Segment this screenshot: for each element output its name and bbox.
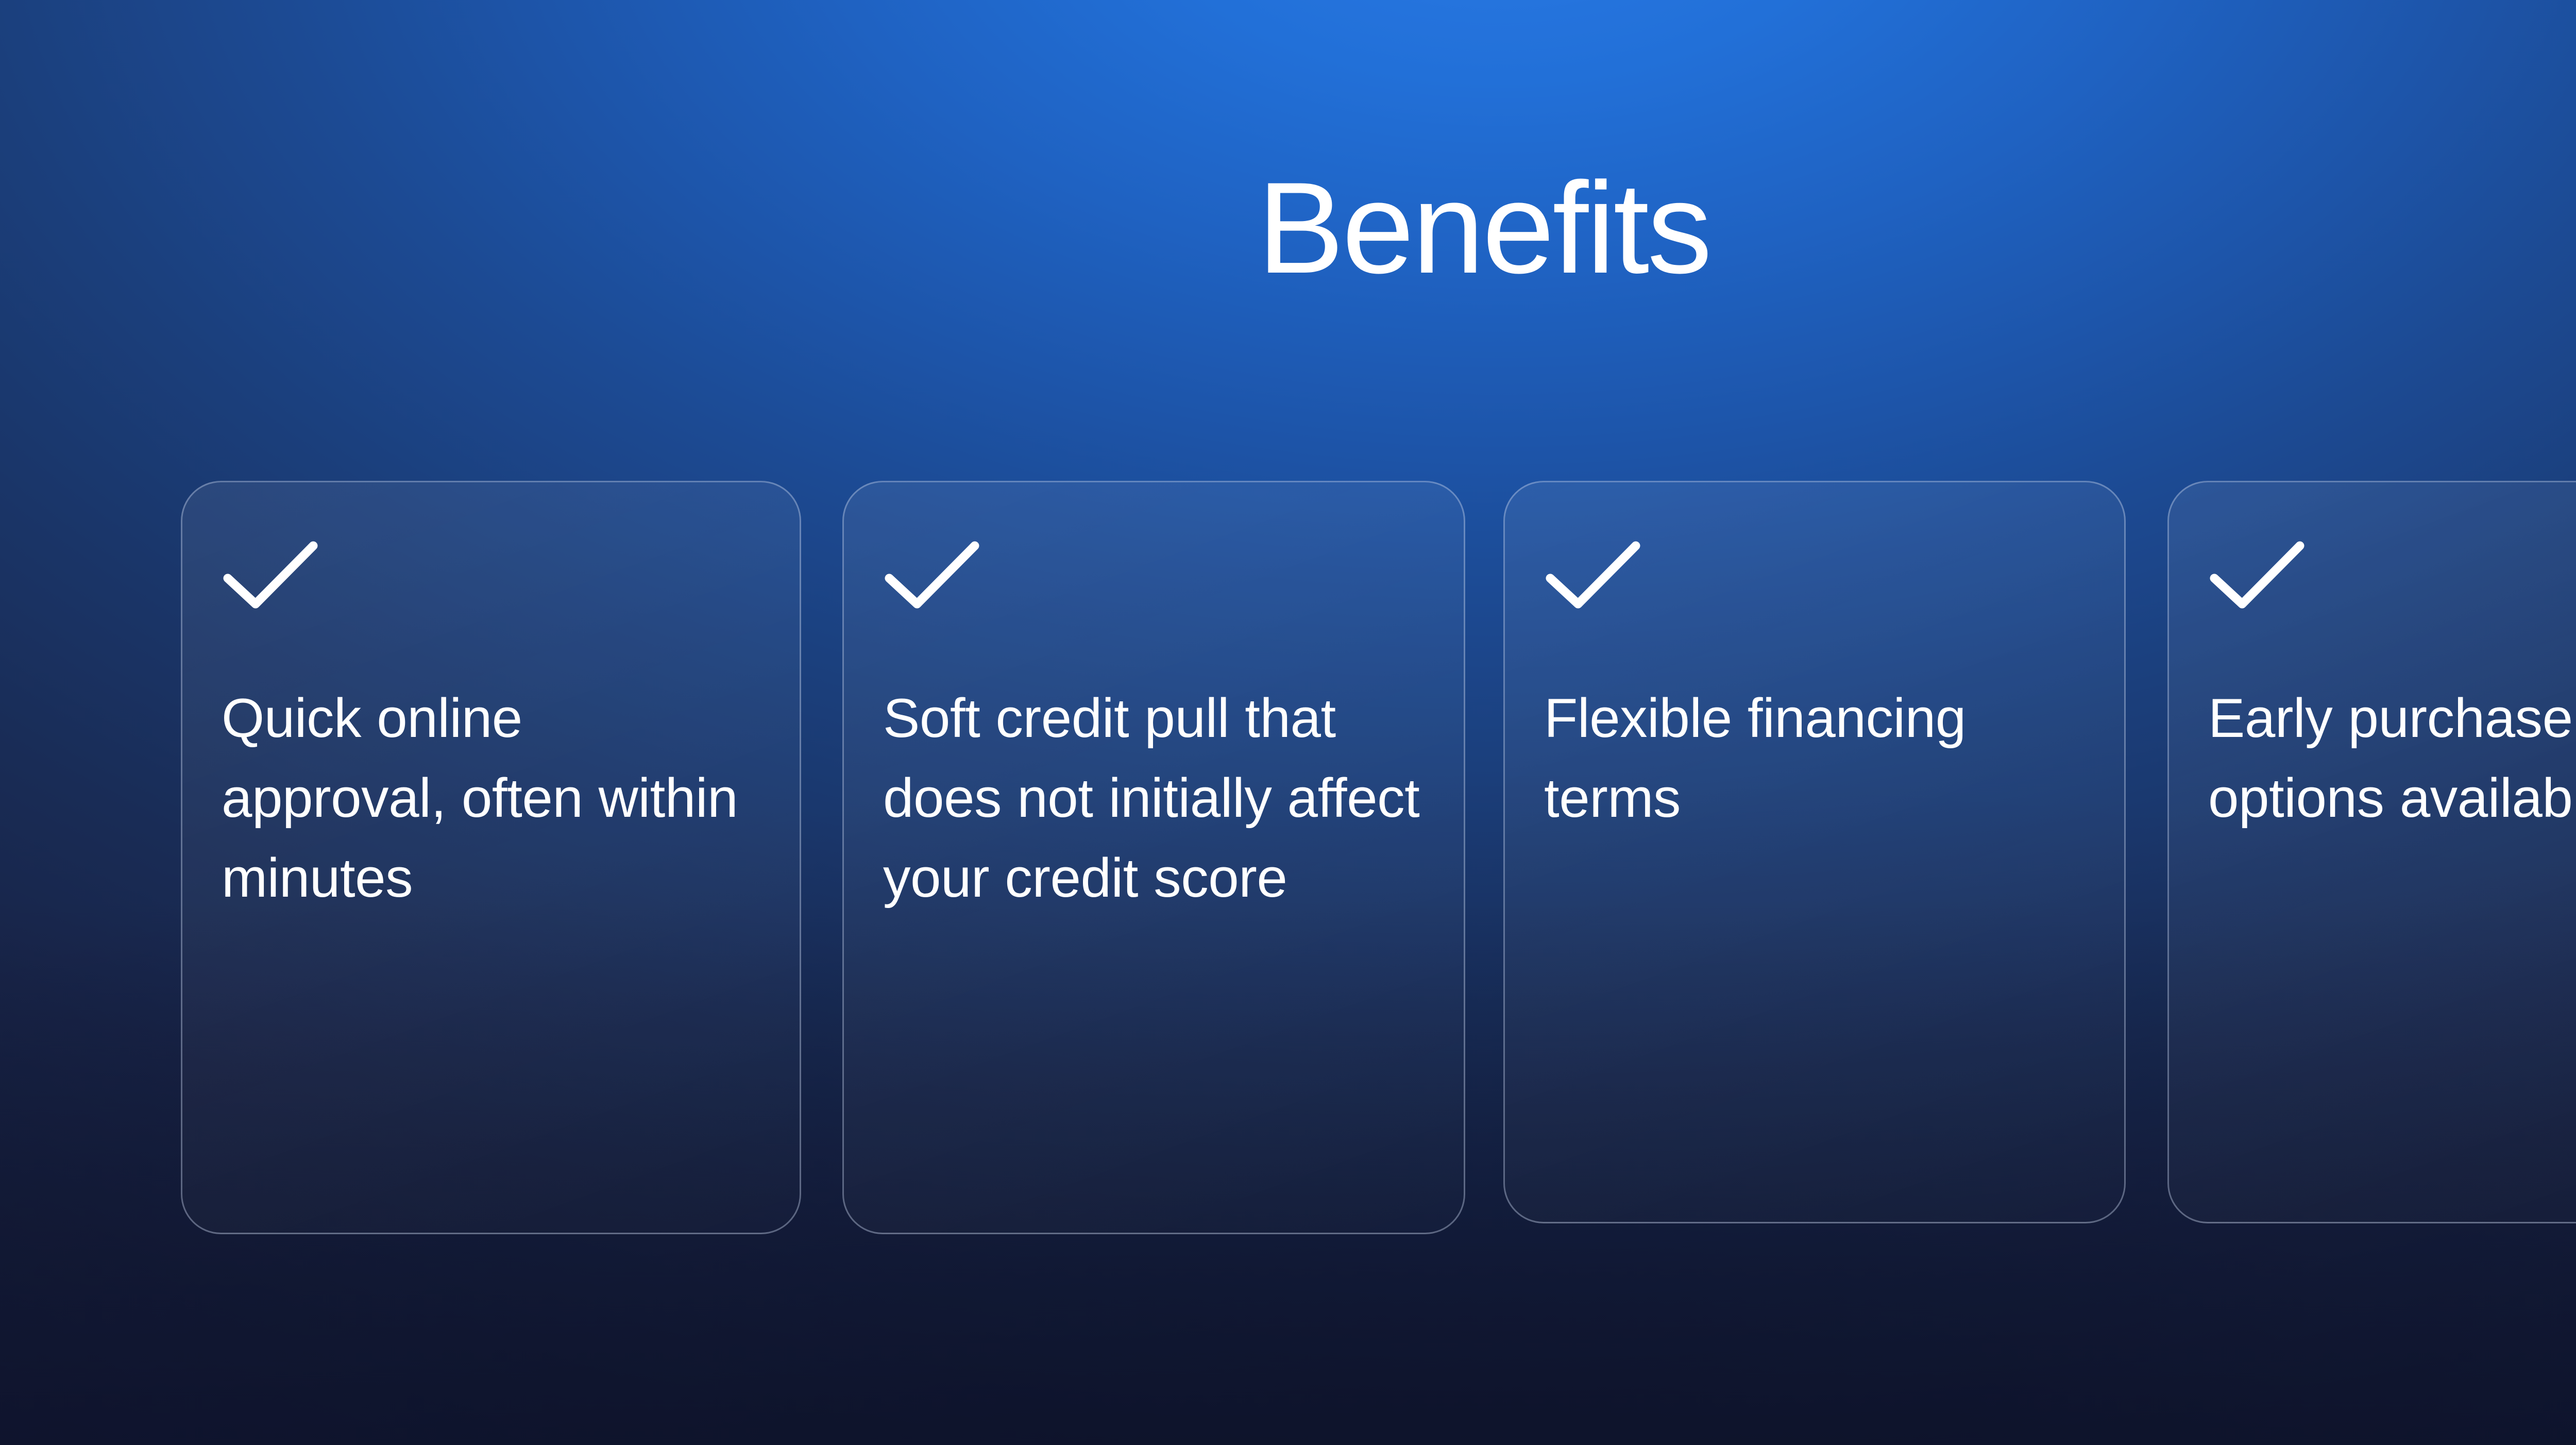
- benefit-card-3[interactable]: Flexible financing terms: [1503, 481, 2126, 1223]
- benefit-card-1[interactable]: Quick online approval, often within minu…: [181, 481, 801, 1234]
- page-title: Benefits: [0, 156, 2576, 301]
- check-icon: [1544, 540, 1642, 610]
- benefit-card-2-text: Soft credit pull that does not initially…: [883, 678, 1425, 918]
- benefit-card-3-text: Flexible financing terms: [1544, 678, 2085, 838]
- check-icon: [222, 540, 319, 610]
- slide-canvas: Benefits Quick online approval, often wi…: [0, 0, 2576, 1445]
- check-icon: [883, 540, 981, 610]
- benefit-card-4-text: Early purchase options available: [2208, 678, 2576, 838]
- benefit-card-1-text: Quick online approval, often within minu…: [222, 678, 760, 918]
- benefits-card-row: Quick online approval, often within minu…: [181, 481, 2576, 1238]
- benefit-card-4[interactable]: Early purchase options available: [2167, 481, 2576, 1223]
- check-icon: [2208, 540, 2306, 610]
- benefit-card-2[interactable]: Soft credit pull that does not initially…: [842, 481, 1465, 1234]
